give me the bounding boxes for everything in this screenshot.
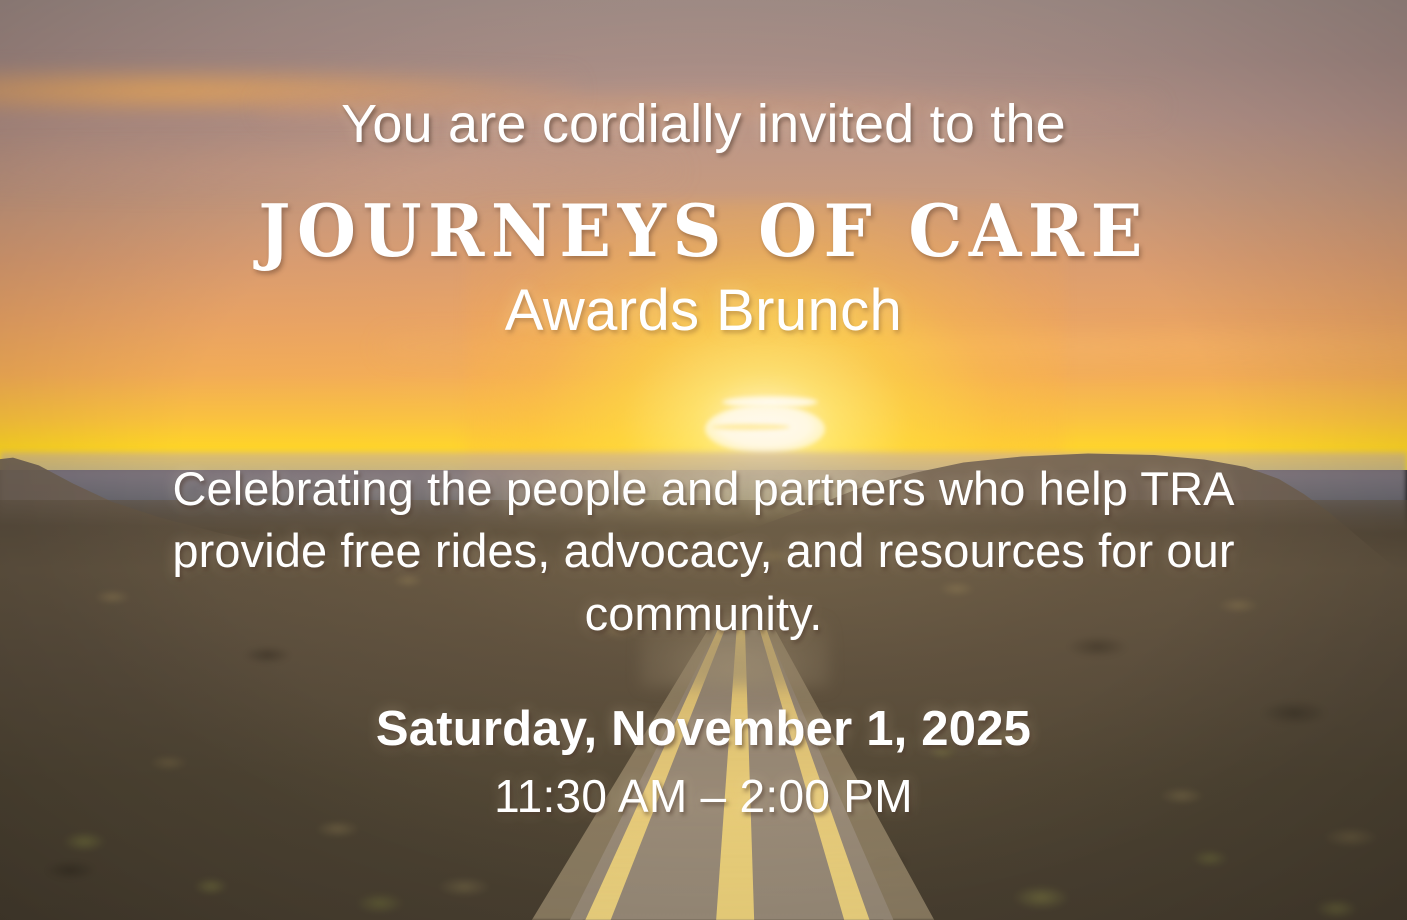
invitation-card: You are cordially invited to the JOURNEY… <box>0 0 1407 920</box>
event-time: 11:30 AM – 2:00 PM <box>494 769 913 823</box>
invitation-content: You are cordially invited to the JOURNEY… <box>0 0 1407 920</box>
event-title: JOURNEYS OF CARE <box>258 195 1149 267</box>
invitation-intro-line: You are cordially invited to the <box>341 96 1066 153</box>
event-date: Saturday, November 1, 2025 <box>376 701 1031 757</box>
event-subtitle: Awards Brunch <box>505 281 902 342</box>
event-description: Celebrating the people and partners who … <box>144 458 1264 646</box>
